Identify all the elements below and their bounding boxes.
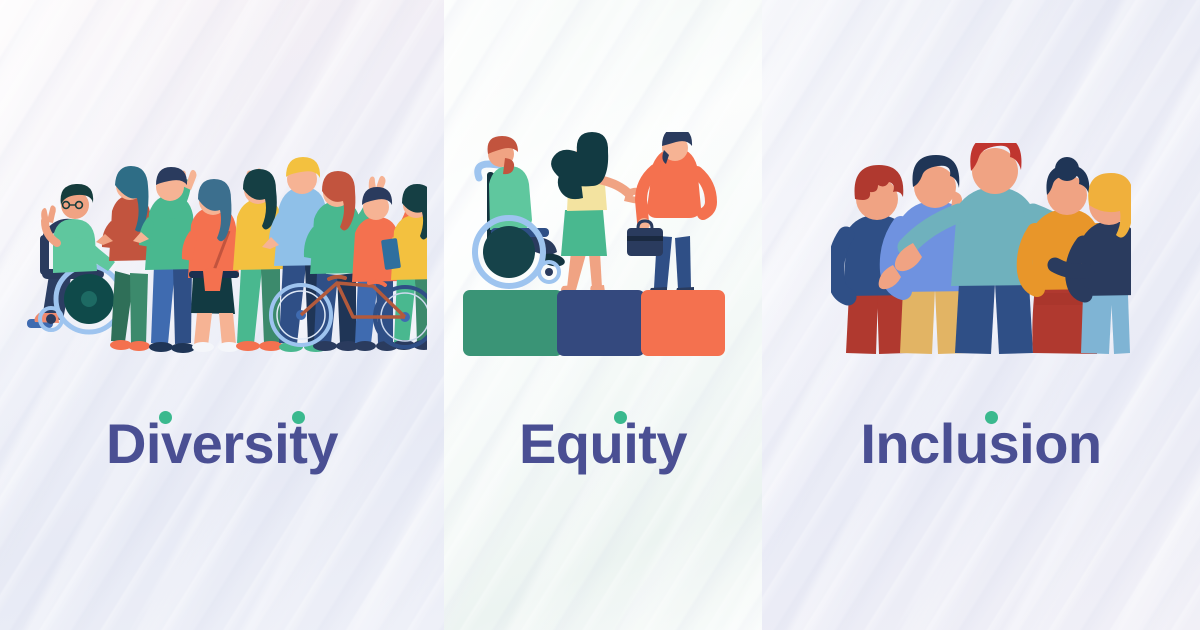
accent-dot-icon [159,411,172,424]
accent-dot-icon [292,411,305,424]
panel-diversity-caption: Diversity [0,416,444,472]
panel-inclusion-caption: Inclusion [762,416,1200,472]
accent-dot-icon [614,411,627,424]
three-people-on-platforms-illustration [444,118,762,358]
panel-equity-caption-text: Equity [519,412,687,475]
panel-equity: Equity [444,0,762,630]
panel-inclusion-caption-text: Inclusion [860,412,1101,475]
group-hug-from-behind-illustration [762,118,1200,358]
dei-banner: Diversity [0,0,1200,630]
panel-inclusion: Inclusion [762,0,1200,630]
crowd-of-diverse-people-illustration [0,118,444,358]
panel-equity-caption: Equity [444,416,762,472]
panel-diversity: Diversity [0,0,444,630]
